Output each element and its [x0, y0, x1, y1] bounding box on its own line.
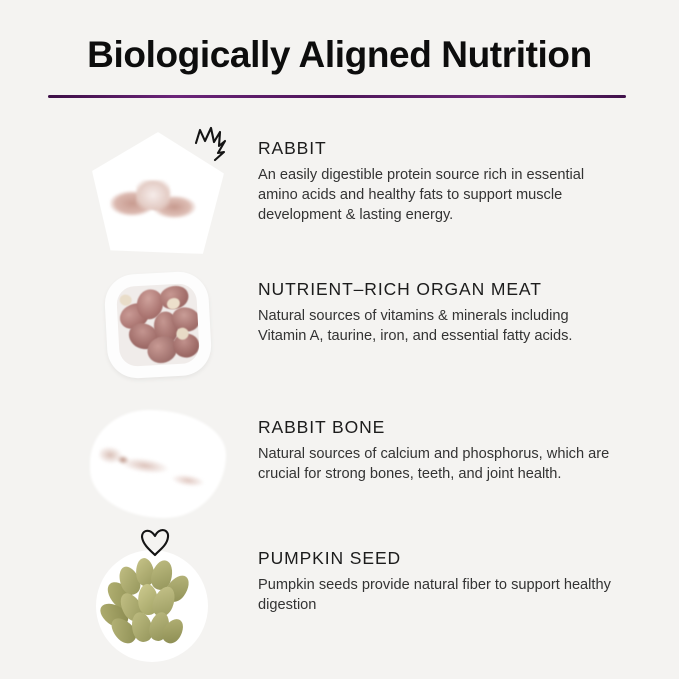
organ-meat-bowl-photo: [84, 266, 244, 401]
heart-doodle: [136, 524, 176, 560]
ingredient-description: Pumpkin seeds provide natural fiber to s…: [258, 575, 618, 615]
ingredient-heading: NUTRIENT–RICH ORGAN MEAT: [258, 279, 618, 300]
ingredient-heading: RABBIT BONE: [258, 417, 618, 438]
rabbit-copy: RABBIT An easily digestible protein sour…: [258, 138, 618, 225]
pumpkin-seed-copy: PUMPKIN SEED Pumpkin seeds provide natur…: [258, 548, 618, 615]
bowl-interior: [116, 283, 200, 367]
page-title: Biologically Aligned Nutrition: [0, 34, 679, 76]
pumpkin-seeds-photo: [84, 534, 244, 669]
organ-meat-copy: NUTRIENT–RICH ORGAN MEAT Natural sources…: [258, 279, 618, 346]
ingredient-heading: PUMPKIN SEED: [258, 548, 618, 569]
rabbit-meat-highlight: [136, 180, 170, 210]
lightning-bolt-doodle: [188, 124, 240, 168]
white-circle-backdrop: [96, 550, 208, 662]
ingredient-description: Natural sources of vitamins & minerals i…: [258, 306, 618, 346]
ingredient-infographic: Biologically Aligned Nutrition RABBIT An…: [0, 0, 679, 679]
rabbit-bone-copy: RABBIT BONE Natural sources of calcium a…: [258, 417, 618, 484]
title-divider: [48, 95, 626, 98]
ingredient-description: An easily digestible protein source rich…: [258, 165, 618, 225]
rabbit-meat-photo: [84, 128, 244, 263]
rabbit-bone-photo: [84, 404, 244, 539]
ingredient-description: Natural sources of calcium and phosphoru…: [258, 444, 618, 484]
ingredient-heading: RABBIT: [258, 138, 618, 159]
white-square-bowl: [103, 270, 212, 379]
